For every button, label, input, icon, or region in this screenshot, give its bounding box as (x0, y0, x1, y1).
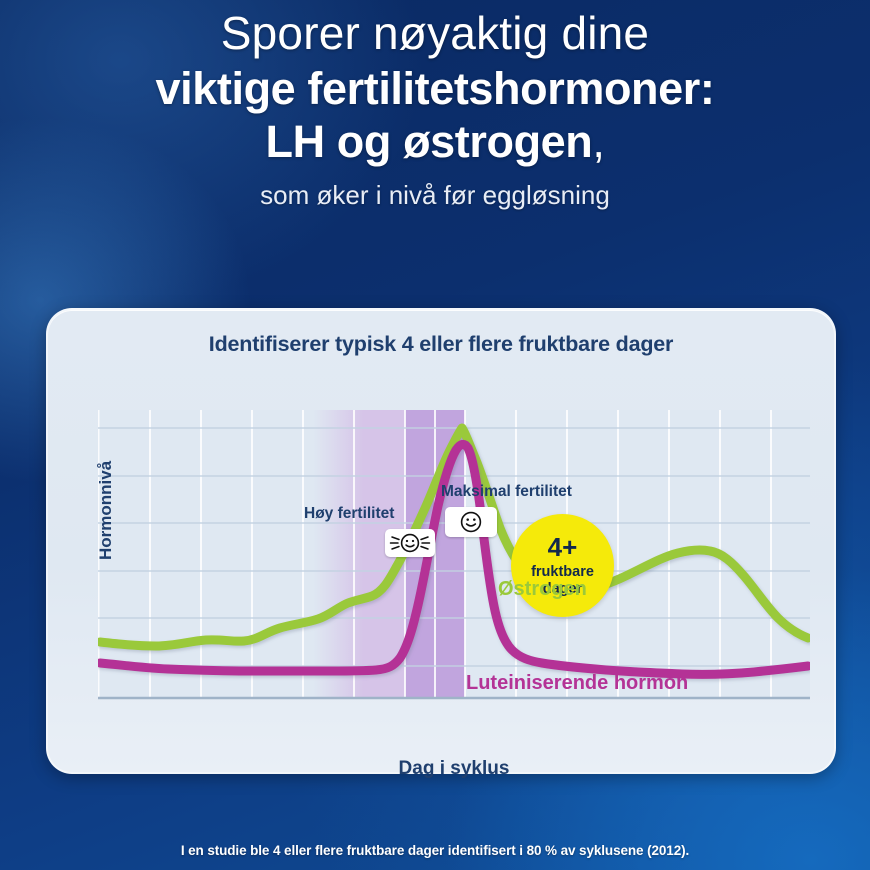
flashing-smiley-glyph (388, 531, 432, 555)
fertile-days-badge: 4+ fruktbare dager (511, 514, 614, 617)
y-axis-label: Hormonnivå (96, 430, 116, 560)
headline-subtitle: som øker i nivå før eggløsning (0, 179, 870, 212)
x-axis-label: Dag i syklus (98, 740, 810, 780)
chart-card: Identifiserer typisk 4 eller flere frukt… (46, 308, 836, 774)
headline-line-3: LH og østrogen, (0, 115, 870, 169)
high-fertility-label: Høy fertilitet (304, 505, 394, 523)
headline-line-3-text: LH og østrogen (266, 116, 593, 167)
smiley-glyph (458, 509, 484, 535)
smiley-icon (445, 507, 497, 537)
poster-canvas: Sporer nøyaktig dine viktige fertilitets… (0, 0, 870, 870)
footnote: I en studie ble 4 eller flere fruktbare … (0, 843, 870, 858)
headline-line-1: Sporer nøyaktig dine (0, 6, 870, 60)
badge-number: 4+ (548, 534, 578, 560)
series-label-lh: Luteiniserende hormon (466, 672, 688, 695)
series-label-oestrogen: Østrogen (498, 578, 587, 601)
hormone-curve-chart (98, 410, 810, 740)
peak-fertility-label: Maksimal fertilitet (441, 483, 572, 501)
headline-line-2: viktige fertilitetshormoner: (0, 62, 870, 115)
chart-plot-area: Hormonnivå Dag i syklus Høy fertilitet M… (98, 410, 810, 740)
chart-title: Identifiserer typisk 4 eller flere frukt… (48, 332, 834, 357)
flashing-smiley-icon (385, 529, 435, 557)
headline-line-3-comma: , (592, 116, 604, 167)
headline-block: Sporer nøyaktig dine viktige fertilitets… (0, 6, 870, 212)
